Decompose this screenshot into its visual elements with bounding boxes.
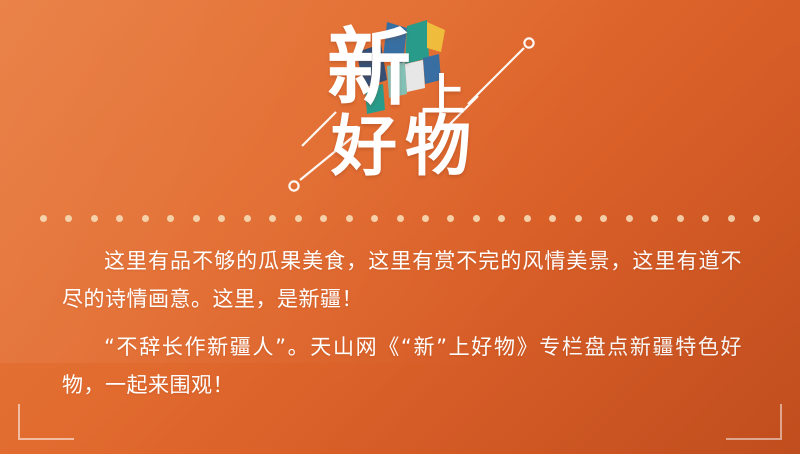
logo-glyph-xin: 新 <box>327 26 411 110</box>
divider-dot <box>295 215 302 222</box>
divider-dot <box>600 215 607 222</box>
divider-dot <box>116 215 123 222</box>
divider-dot <box>702 215 709 222</box>
divider-dot <box>524 215 531 222</box>
paragraph-1: 这里有品不够的瓜果美食，这里有赏不完的风情美景，这里有道不尽的诗情画意。这里，是… <box>62 242 742 318</box>
divider-dot <box>40 215 47 222</box>
divider-dot <box>575 215 582 222</box>
divider-dot <box>473 215 480 222</box>
divider-dot <box>447 215 454 222</box>
divider-dot <box>193 215 200 222</box>
dotted-divider <box>40 214 760 224</box>
divider-dot <box>651 215 658 222</box>
divider-dot <box>320 215 327 222</box>
divider-dot <box>346 215 353 222</box>
divider-dot <box>397 215 404 222</box>
logo-glyph-hao: 好 <box>331 114 397 180</box>
divider-dot <box>244 215 251 222</box>
logo-title: 新 上 好 物 <box>295 26 515 186</box>
corner-frame-right <box>726 404 782 440</box>
divider-dot <box>728 215 735 222</box>
divider-dot <box>498 215 505 222</box>
divider-dot <box>269 215 276 222</box>
divider-dot <box>218 215 225 222</box>
paragraph-2: “不辞长作新疆人”。天山网《“新”上好物》专栏盘点新疆特色好物，一起来围观！ <box>62 328 742 404</box>
body-text-block: 这里有品不够的瓜果美食，这里有赏不完的风情美景，这里有道不尽的诗情画意。这里，是… <box>62 242 742 414</box>
logo-glyph-wu: 物 <box>405 114 471 180</box>
corner-frame-left <box>18 404 74 440</box>
divider-dot <box>371 215 378 222</box>
poster-root: 新 上 好 物 这里有品不够的瓜果美食，这里有赏不完的风情美景，这里有道不尽的诗… <box>0 0 800 454</box>
divider-dot <box>422 215 429 222</box>
divider-dot <box>753 215 760 222</box>
divider-dot <box>142 215 149 222</box>
logo-area: 新 上 好 物 <box>0 0 800 210</box>
divider-dot <box>167 215 174 222</box>
divider-dot <box>626 215 633 222</box>
divider-dot <box>65 215 72 222</box>
divider-dot <box>549 215 556 222</box>
divider-dot <box>677 215 684 222</box>
divider-dot <box>91 215 98 222</box>
